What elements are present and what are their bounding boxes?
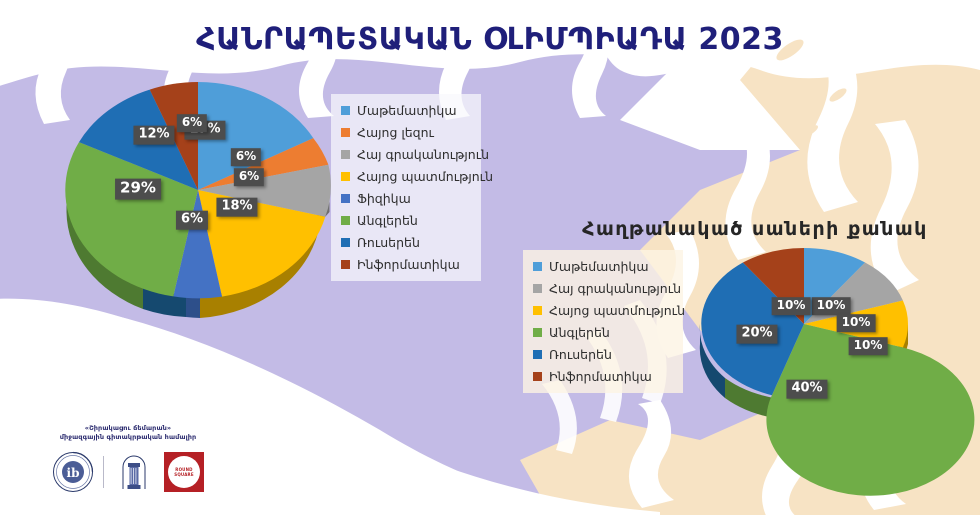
legend-label: Ֆիզիկա [357,191,411,206]
legend-swatch-icon [341,128,350,137]
legend-swatch-icon [533,328,542,337]
legend-label: Ռուսերեն [357,235,420,250]
pie-1-label-6-lang: 6% [231,148,261,166]
legend-item[interactable]: Հայոց պատմություն [341,169,467,184]
legend-item[interactable]: Հայոց պատմություն [533,303,669,318]
legend-item[interactable]: Ռուսերեն [533,347,669,362]
svg-text:ib: ib [67,466,80,480]
legend-item[interactable]: Ինֆորմատիկա [341,257,467,272]
legend-label: Հայ գրականություն [357,147,489,162]
legend-label: Մաթեմատիկա [357,103,457,118]
legend-item[interactable]: Ռուսերեն [341,235,467,250]
logo-divider [103,456,104,488]
legend-item[interactable]: Ֆիզիկա [341,191,467,206]
pie-2-label-10-lit: 10% [837,314,876,332]
winners-chart-title: Հաղթանակած սաների քանակ [545,218,965,240]
legend-swatch-icon [533,350,542,359]
column-logo [113,451,155,493]
legend-swatch-icon [341,194,350,203]
legend-swatch-icon [341,238,350,247]
legend-item[interactable]: Ինֆորմատիկա [533,369,669,384]
legend-label: Մաթեմատիկա [549,259,649,274]
legend-item[interactable]: Մաթեմատիկա [533,259,669,274]
legend-swatch-icon [533,262,542,271]
pie-1-label-6-phys: 6% [176,211,208,230]
pie-2-label-40-eng: 40% [786,380,827,399]
round-square-logo: ROUND SQUARE [164,452,204,492]
legend-item[interactable]: Անգլերեն [341,213,467,228]
legend-item[interactable]: Հայ գրականություն [341,147,467,162]
legend-label: Անգլերեն [357,213,418,228]
legend-swatch-icon [533,372,542,381]
footer-line-2: միջազգային գիտակրթական համալիր [28,433,228,442]
pie-1-label-18: 18% [216,198,257,217]
legend-swatch-icon [341,106,350,115]
legend-swatch-icon [533,284,542,293]
legend-item[interactable]: Մաթեմատիկա [341,103,467,118]
pie-2-label-10-math: 10% [812,297,851,315]
footer-branding: «Շիրակացու ճեմարան» միջազգային գիտակրթակ… [28,424,228,493]
pie-1-label-6-inf: 6% [177,114,207,132]
legend-label: Հայոց լեզու [357,125,434,140]
pie-1-label-12: 12% [133,126,174,145]
legend-label: Ինֆորմատիկա [357,257,460,272]
logo-row: ib ROUND [28,451,228,493]
footer-line-1: «Շիրակացու ճեմարան» [28,424,228,433]
legend-item[interactable]: Հայ գրականություն [533,281,669,296]
legend-label: Անգլերեն [549,325,610,340]
pie-1-label-29: 29% [115,179,161,200]
legend-label: Հայ գրականություն [549,281,681,296]
legend-swatch-icon [341,260,350,269]
legend-swatch-icon [341,150,350,159]
slide-canvas: ՀԱՆՐԱՊԵՏԱԿԱՆ ՕԼԻՄՊԻԱԴԱ 2023 [0,0,980,515]
pie-2-label-20-rus: 20% [736,325,777,344]
legend-swatch-icon [341,172,350,181]
legend-label: Ռուսերեն [549,347,612,362]
pie-1-graphic [58,72,338,304]
ib-logo: ib [52,451,94,493]
round-square-logo-inner: ROUND SQUARE [168,456,200,488]
page-title: ՀԱՆՐԱՊԵՏԱԿԱՆ ՕԼԻՄՊԻԱԴԱ 2023 [0,22,980,57]
legend-label: Հայոց պատմություն [549,303,685,318]
round-square-line-2: SQUARE [174,472,194,477]
pie-2-label-10-hist: 10% [849,337,888,355]
legend-swatch-icon [341,216,350,225]
legend-swatch-icon [533,306,542,315]
pie-2-label-10-inf: 10% [772,297,811,315]
legend-item[interactable]: Հայոց լեզու [341,125,467,140]
legend-label: Հայոց պատմություն [357,169,493,184]
legend-item[interactable]: Անգլերեն [533,325,669,340]
participants-pie-chart: 17% 6% 6% 18% 6% 29% 12% 6% [58,72,338,302]
pie-1-label-6-lit: 6% [234,168,264,186]
winners-pie-chart: 10% 10% 10% 40% 20% 10% [694,258,914,433]
legend-label: Ինֆորմատիկա [549,369,652,384]
winners-pie-legend: Մաթեմատիկա Հայ գրականություն Հայոց պատմո… [523,250,683,393]
participants-pie-legend: Մաթեմատիկա Հայոց լեզու Հայ գրականություն… [331,94,481,281]
